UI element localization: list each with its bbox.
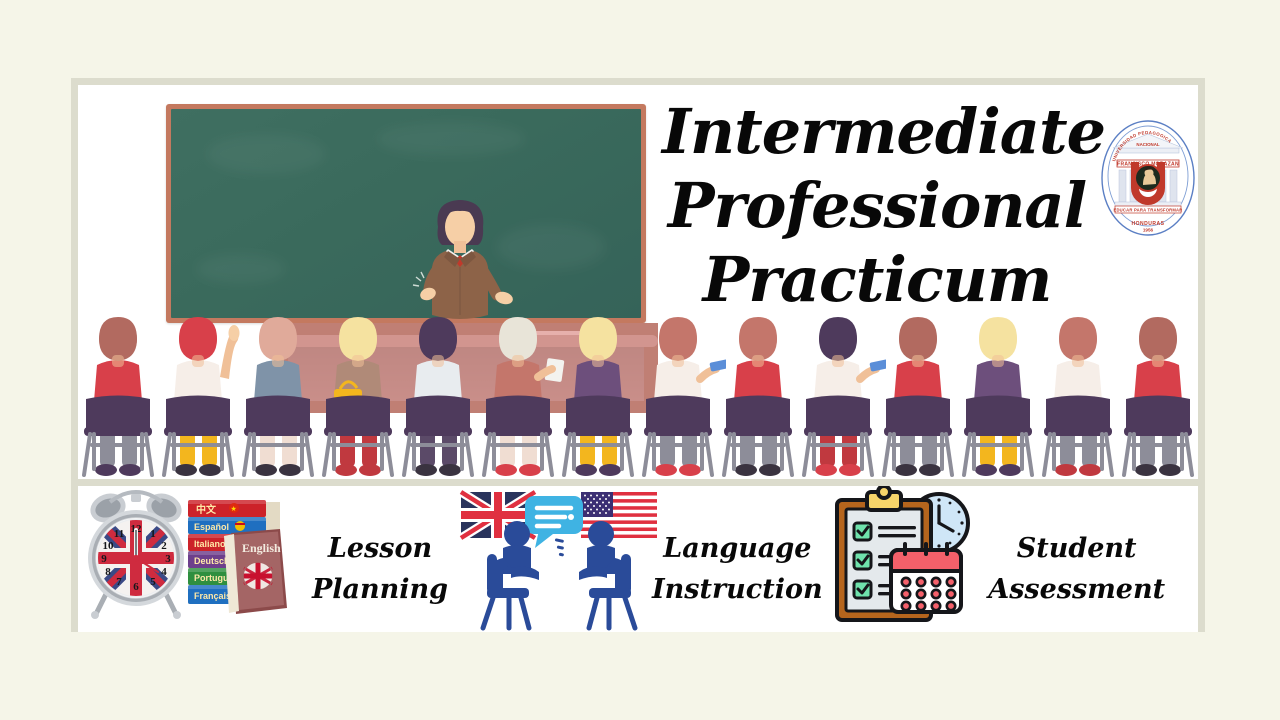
feature-student-assessment[interactable]: Student Assessment [825, 486, 1198, 632]
page-title: Intermediate Professional Practicum [662, 95, 1092, 317]
svg-text:3: 3 [165, 553, 171, 565]
students-row [78, 303, 1198, 479]
svg-text:中文: 中文 [196, 503, 217, 516]
speech-bubble [525, 496, 583, 557]
feature-language-instruction[interactable]: Language Instruction [451, 486, 824, 632]
feature-label-line-2: Planning [300, 569, 460, 610]
feature-label-line-1: Lesson [300, 528, 460, 569]
feature-student-assessment-label: Student Assessment [977, 528, 1177, 610]
feature-label-line-2: Assessment [977, 569, 1177, 610]
calendar-icon [891, 544, 961, 612]
svg-text:Italiano: Italiano [194, 539, 226, 549]
clipboard-clock-calendar-icon [829, 486, 989, 632]
feature-label-line-1: Student [977, 528, 1177, 569]
seal-country: HONDURAS [1132, 221, 1165, 227]
svg-text:5: 5 [150, 576, 156, 588]
upnfm-university-seal: UNIVERSIDAD PEDAGOGICA NACIONAL FRANCISC… [1099, 118, 1197, 238]
svg-text:10: 10 [103, 540, 115, 552]
svg-text:English: English [242, 541, 281, 555]
svg-text:6: 6 [133, 581, 139, 593]
svg-text:Español: Español [194, 522, 229, 532]
svg-text:Français: Français [194, 591, 231, 601]
title-line-1: Intermediate [662, 95, 1092, 169]
svg-text:1: 1 [150, 528, 156, 540]
seal-banner: FRANCISCO MORAZAN [1117, 162, 1179, 168]
feature-language-instruction-label: Language Instruction [647, 528, 827, 610]
svg-text:4: 4 [161, 566, 167, 578]
feature-label-line-1: Language [647, 528, 827, 569]
svg-text:9: 9 [101, 553, 107, 565]
conversation-with-flags-icon [459, 486, 659, 632]
feature-lesson-planning-label: Lesson Planning [300, 528, 460, 610]
seal-motto: EDUCAR PARA TRANSFORMAR [1113, 207, 1182, 212]
seal-year: 1956 [1143, 228, 1154, 233]
title-line-2: Professional [662, 169, 1092, 243]
alarm-clock-and-books-icon: 中文 Español Italiano Deutsch Português Fr… [84, 486, 304, 632]
feature-label-line-2: Instruction [647, 569, 827, 610]
features-panel: 中文 Español Italiano Deutsch Português Fr… [78, 486, 1198, 632]
svg-text:7: 7 [116, 576, 122, 588]
poster-frame: Intermediate Professional Practicum [71, 78, 1205, 632]
svg-text:11: 11 [114, 528, 124, 540]
feature-lesson-planning[interactable]: 中文 Español Italiano Deutsch Português Fr… [78, 486, 451, 632]
svg-text:2: 2 [161, 540, 167, 552]
student-figure [1110, 303, 1198, 479]
svg-text:8: 8 [105, 566, 111, 578]
svg-text:Deutsch: Deutsch [194, 556, 230, 566]
seal-arc-top2: NACIONAL [1136, 142, 1159, 147]
classroom-illustration-panel: Intermediate Professional Practicum [78, 85, 1198, 479]
svg-text:★: ★ [231, 505, 237, 513]
